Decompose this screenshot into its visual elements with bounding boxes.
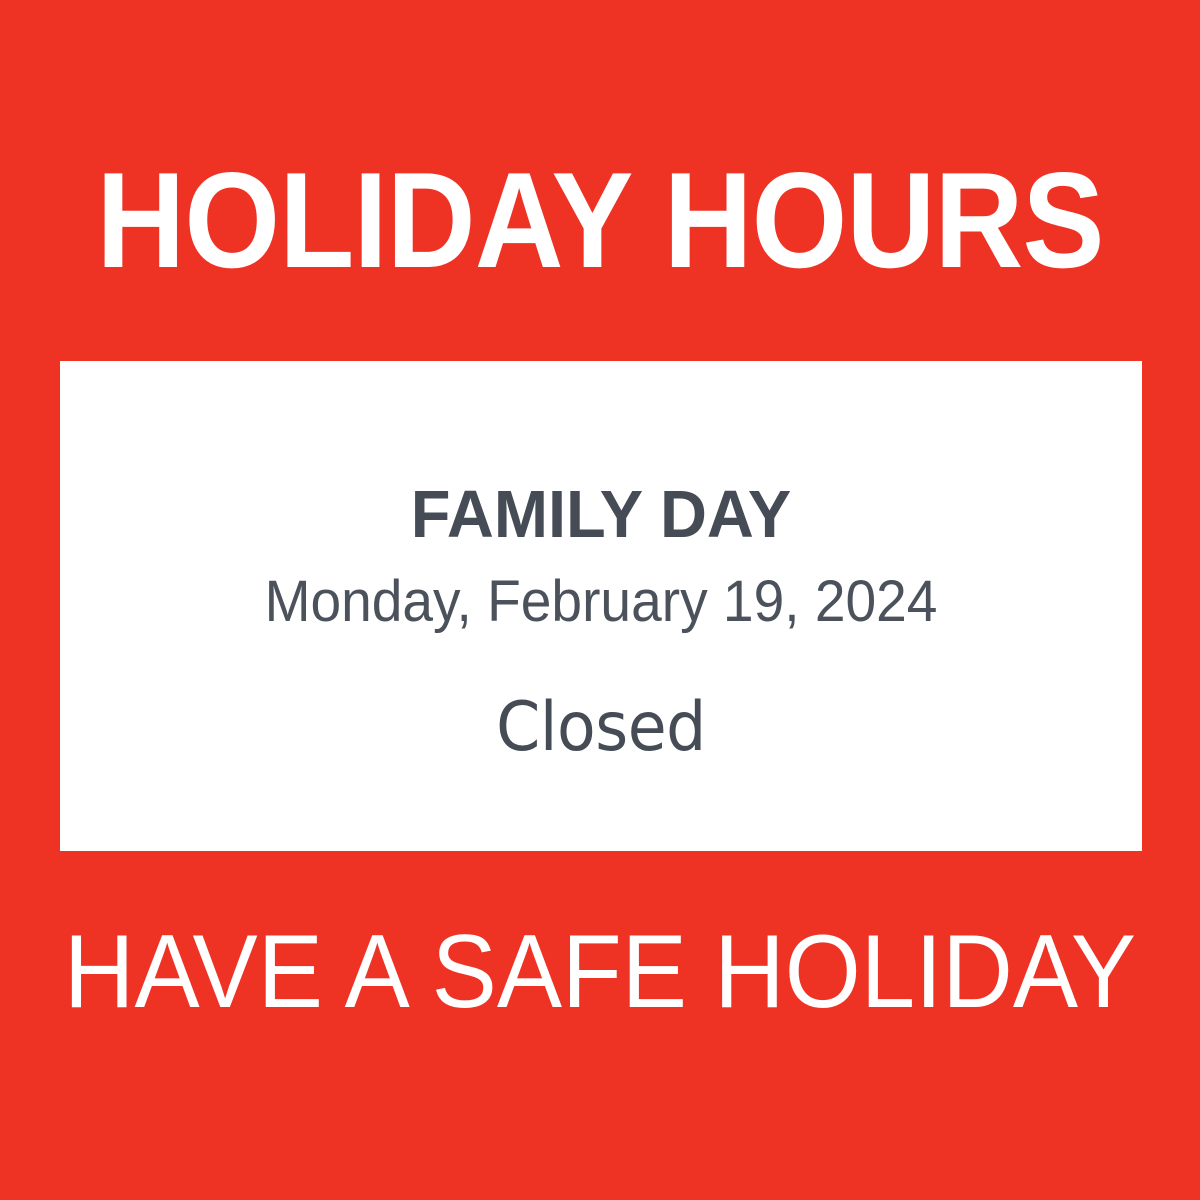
- page-title: HOLIDAY HOURS: [57, 150, 1143, 290]
- holiday-name: FAMILY DAY: [76, 481, 1126, 548]
- footer-message: HAVE A SAFE HOLIDAY: [36, 912, 1164, 1032]
- holiday-detail-card: FAMILY DAY Monday, February 19, 2024 Clo…: [60, 361, 1142, 851]
- status-badge: Closed: [98, 694, 1104, 762]
- holiday-detail-card-inner: FAMILY DAY Monday, February 19, 2024 Clo…: [60, 361, 1142, 851]
- holiday-hours-poster: HOLIDAY HOURS FAMILY DAY Monday, Februar…: [0, 0, 1200, 1200]
- holiday-date: Monday, February 19, 2024: [87, 573, 1115, 631]
